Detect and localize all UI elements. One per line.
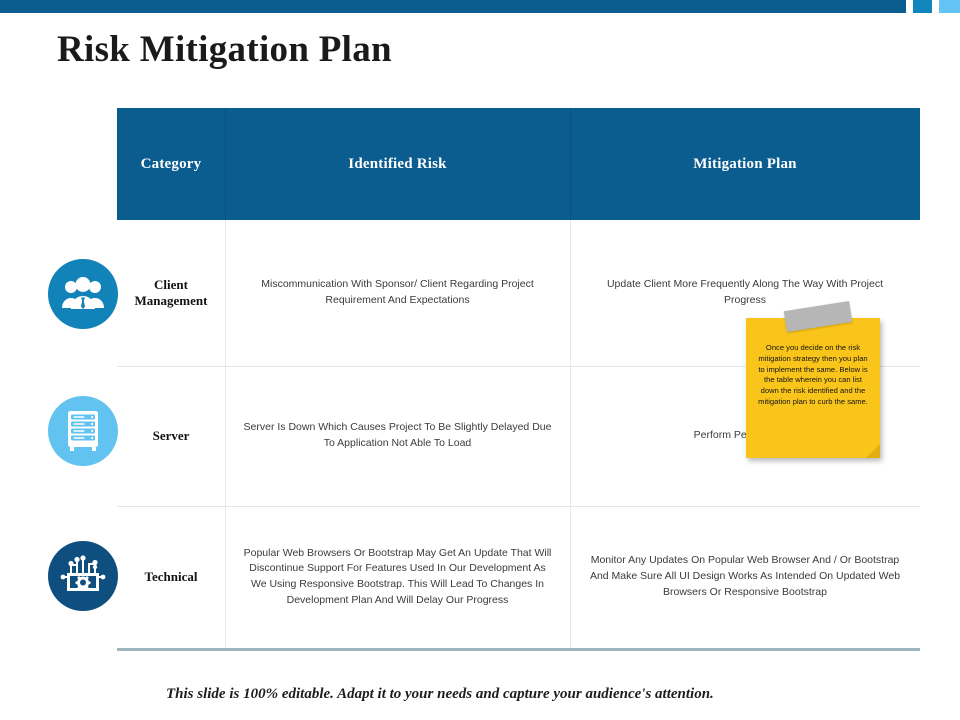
header-divider-1: [225, 108, 226, 220]
users-group-icon: [48, 259, 118, 329]
top-bar-segment-mid: [913, 0, 932, 13]
column-header-mitigation-plan: Mitigation Plan: [570, 108, 920, 220]
sticky-note-fold: [866, 444, 880, 458]
header-divider-2: [570, 108, 571, 220]
server-rack-icon: [48, 396, 118, 466]
top-bar-segment-main: [0, 0, 906, 13]
footer-note: This slide is 100% editable. Adapt it to…: [166, 686, 714, 703]
column-header-category: Category: [117, 108, 225, 220]
table-row[interactable]: Technical Popular Web Browsers Or Bootst…: [117, 506, 920, 648]
sticky-note[interactable]: Once you decide on the risk mitigation s…: [746, 318, 880, 458]
column-header-identified-risk: Identified Risk: [225, 108, 570, 220]
top-accent-bar: [0, 0, 960, 13]
circuit-gear-icon: [48, 541, 118, 611]
top-bar-segment-light: [939, 0, 960, 13]
cell-category: Client Management: [117, 220, 225, 366]
cell-mitigation-plan: Monitor Any Updates On Popular Web Brows…: [570, 506, 920, 648]
slide-canvas: Risk Mitigation Plan Category Identified…: [0, 0, 960, 720]
table-bottom-rule: [117, 648, 920, 651]
table-header-row: Category Identified Risk Mitigation Plan: [117, 108, 920, 220]
cell-identified-risk: Server Is Down Which Causes Project To B…: [225, 366, 570, 506]
cell-identified-risk: Popular Web Browsers Or Bootstrap May Ge…: [225, 506, 570, 648]
sticky-note-text: Once you decide on the risk mitigation s…: [755, 343, 871, 408]
page-title: Risk Mitigation Plan: [57, 28, 392, 71]
cell-category: Server: [117, 366, 225, 506]
cell-category: Technical: [117, 506, 225, 648]
cell-identified-risk: Miscommunication With Sponsor/ Client Re…: [225, 220, 570, 366]
